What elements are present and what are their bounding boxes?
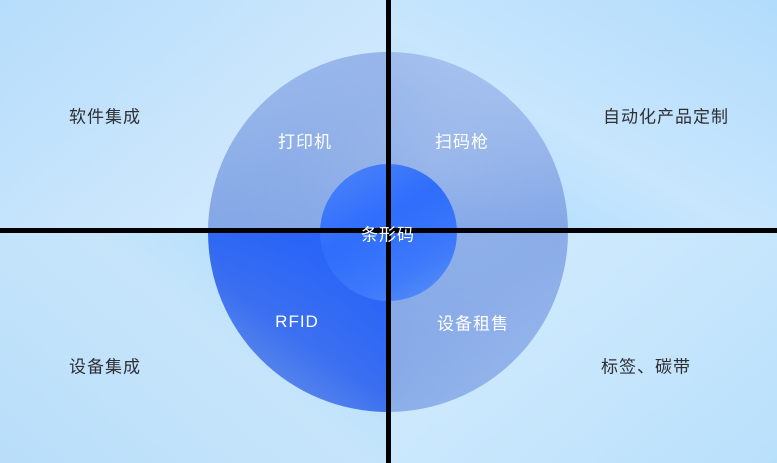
diagram-canvas: 软件集成 自动化产品定制 设备集成 标签、碳带 打印机 扫码枪 RFID 设备租…: [0, 0, 777, 463]
outer-label-device-integration: 设备集成: [69, 353, 141, 378]
ring-label-scanner: 扫码枪: [435, 128, 489, 153]
outer-label-automation-customizing: 自动化产品定制: [603, 103, 729, 128]
ring-label-rental: 设备租售: [437, 310, 509, 335]
ring-label-rfid: RFID: [275, 312, 319, 332]
outer-label-labels-ribbons: 标签、碳带: [601, 353, 691, 378]
center-core-label: 条形码: [361, 221, 415, 246]
ring-label-printer: 打印机: [278, 128, 332, 153]
outer-label-software-integration: 软件集成: [69, 103, 141, 128]
